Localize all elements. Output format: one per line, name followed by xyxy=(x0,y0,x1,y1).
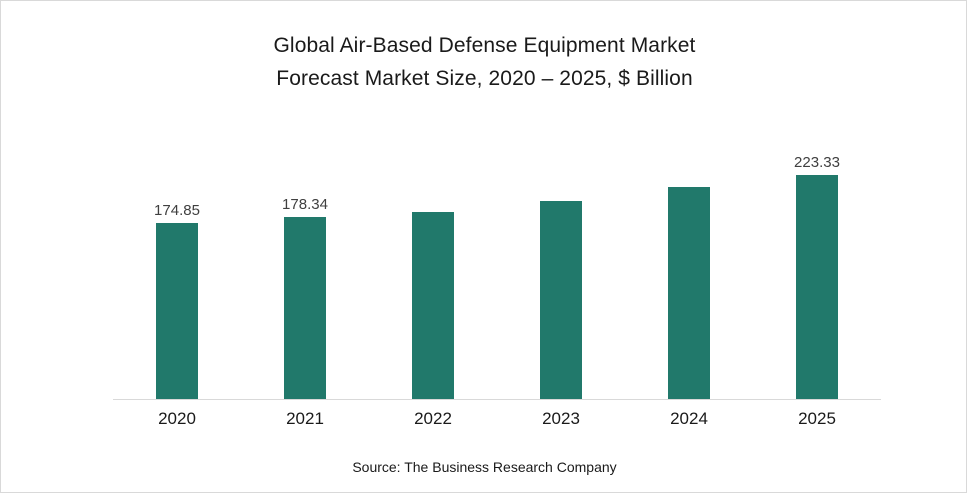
x-axis-tick-label-2022: 2022 xyxy=(369,409,497,429)
x-axis-tick-label-2024: 2024 xyxy=(625,409,753,429)
bar-2023[interactable] xyxy=(540,201,582,399)
bar-group-2025: 223.33 xyxy=(753,121,881,399)
x-axis-baseline xyxy=(113,399,881,400)
plot-area: 174.85 178.34 223.33 xyxy=(113,121,881,400)
bar-value-label-2021: 178.34 xyxy=(241,196,369,213)
bar-group-2021: 178.34 xyxy=(241,121,369,399)
x-axis-labels: 2020 2021 2022 2023 2024 2025 xyxy=(113,409,881,439)
source-note: Source: The Business Research Company xyxy=(1,459,967,475)
bar-chart-figure: Global Air-Based Defense Equipment Marke… xyxy=(0,0,967,493)
bar-2021[interactable] xyxy=(284,217,326,399)
bar-group-2023 xyxy=(497,121,625,399)
bar-2025[interactable] xyxy=(796,175,838,399)
x-axis-tick-label-2020: 2020 xyxy=(113,409,241,429)
bar-2022[interactable] xyxy=(412,212,454,399)
chart-title: Global Air-Based Defense Equipment Marke… xyxy=(1,29,967,95)
x-axis-tick-label-2021: 2021 xyxy=(241,409,369,429)
bar-value-label-2025: 223.33 xyxy=(753,154,881,171)
bar-2020[interactable] xyxy=(156,223,198,399)
chart-title-line-2: Forecast Market Size, 2020 – 2025, $ Bil… xyxy=(1,62,967,95)
bar-value-label-2020: 174.85 xyxy=(113,202,241,219)
bar-group-2022 xyxy=(369,121,497,399)
chart-title-line-1: Global Air-Based Defense Equipment Marke… xyxy=(1,29,967,62)
bar-group-2024 xyxy=(625,121,753,399)
bar-group-2020: 174.85 xyxy=(113,121,241,399)
x-axis-tick-label-2025: 2025 xyxy=(753,409,881,429)
bars-layer: 174.85 178.34 223.33 xyxy=(113,121,881,399)
bar-2024[interactable] xyxy=(668,187,710,399)
x-axis-tick-label-2023: 2023 xyxy=(497,409,625,429)
